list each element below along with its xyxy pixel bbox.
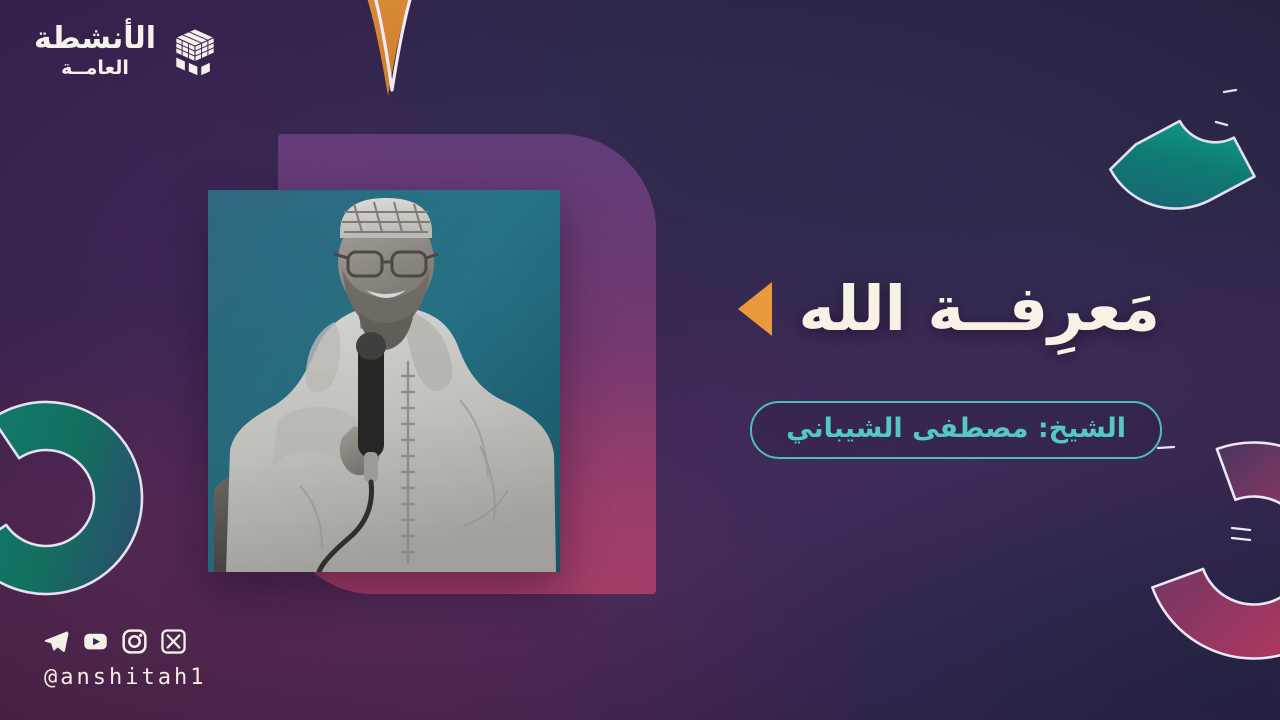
telegram-icon[interactable]	[44, 629, 69, 654]
logo-line-1: الأنشطة	[34, 24, 156, 54]
x-twitter-icon[interactable]	[161, 629, 186, 654]
speaker-name: الشيخ: مصطفى الشيباني	[786, 413, 1126, 444]
page-title: مَعرِفــة الله	[798, 272, 1160, 345]
youtube-icon[interactable]	[83, 629, 108, 654]
portrait-composition	[158, 130, 658, 600]
brand-logo[interactable]: الأنشطة العامــة	[34, 24, 220, 78]
speaker-badge: الشيخ: مصطفى الشيباني	[750, 401, 1162, 459]
social-icon-row	[44, 629, 206, 654]
instagram-icon[interactable]	[122, 629, 147, 654]
triangle-left-icon	[738, 282, 772, 336]
speaker-photo	[208, 190, 560, 572]
social-footer: @anshitah1	[44, 629, 206, 690]
rubiks-cube-icon	[170, 25, 220, 77]
title-row: مَعرِفــة الله	[738, 272, 1160, 345]
promo-card: الأنشطة العامــة	[0, 0, 1280, 720]
social-handle[interactable]: @anshitah1	[44, 665, 206, 690]
photo-tone-overlay	[208, 190, 560, 572]
logo-wordmark: الأنشطة العامــة	[34, 24, 156, 78]
logo-line-2: العامــة	[61, 59, 129, 78]
